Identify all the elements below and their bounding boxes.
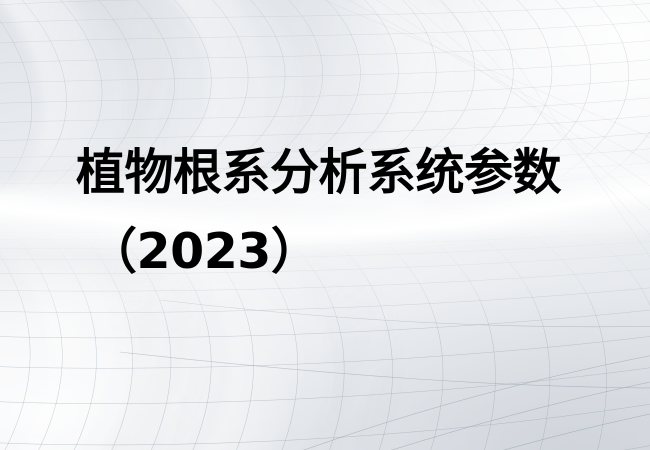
page-title-line-2: （2023） — [88, 222, 319, 282]
page-title-line-1: 植物根系分析系统参数 — [76, 143, 561, 203]
title-slide: 植物根系分析系统参数 （2023） — [0, 0, 650, 450]
title-block: 植物根系分析系统参数 （2023） — [0, 0, 650, 450]
